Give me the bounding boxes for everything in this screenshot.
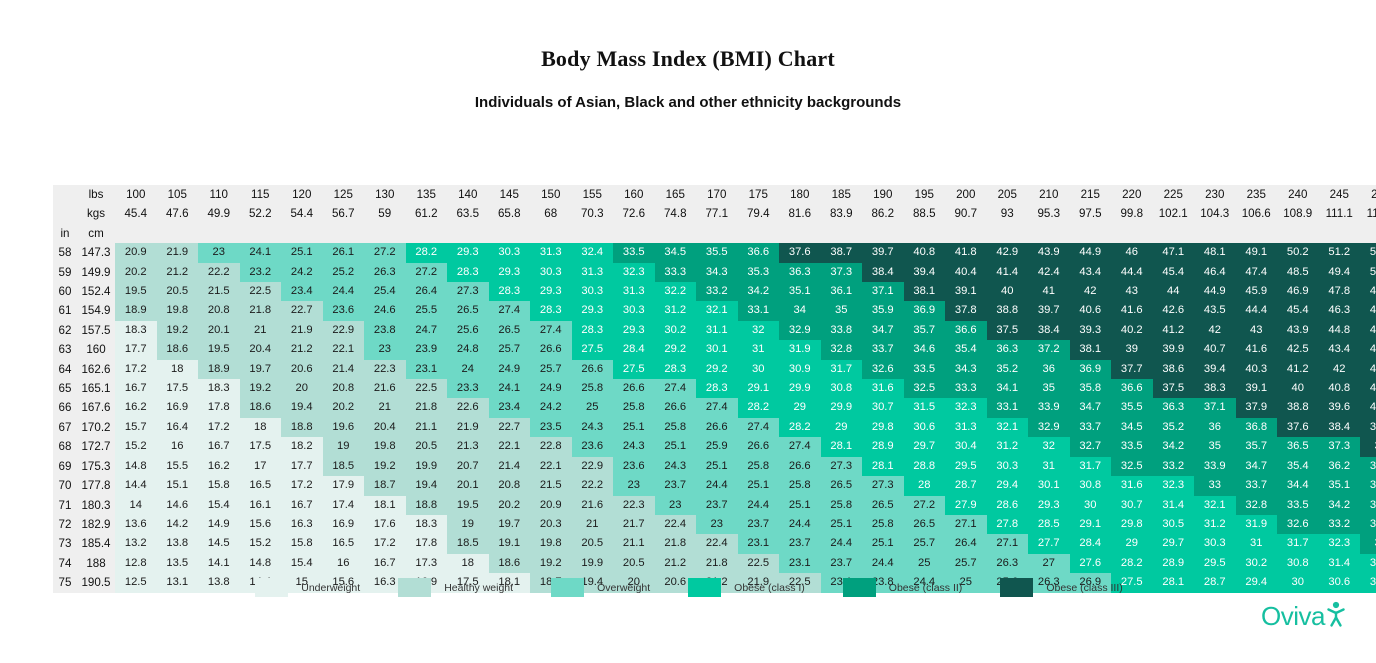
bmi-cell: 25.9	[696, 437, 738, 456]
bmi-cell: 30.3	[987, 457, 1029, 476]
bmi-cell: 40.8	[1319, 379, 1361, 398]
bmi-cell: 45.4	[1153, 263, 1195, 282]
height-in-header: 58	[53, 243, 77, 262]
bmi-cell: 23.8	[364, 321, 406, 340]
bmi-cell: 28.2	[1111, 554, 1153, 573]
bmi-cell: 41.4	[987, 263, 1029, 282]
bmi-cell: 25.1	[821, 515, 863, 534]
unit-kgs-label: kgs	[77, 204, 115, 223]
bmi-cell: 22.5	[738, 554, 780, 573]
bmi-cell: 33.2	[1319, 515, 1361, 534]
height-in-header: 62	[53, 321, 77, 340]
bmi-cell: 19.8	[364, 437, 406, 456]
bmi-cell: 32	[1028, 437, 1070, 456]
bmi-cell: 28.8	[904, 457, 946, 476]
bmi-cell: 31.2	[1360, 573, 1376, 592]
header-spacer-cell	[406, 224, 448, 243]
bmi-cell: 19.2	[240, 379, 282, 398]
bmi-cell: 40.2	[1111, 321, 1153, 340]
legend-swatch	[551, 578, 584, 597]
height-cm-header: 154.9	[77, 301, 115, 320]
bmi-cell: 26.1	[323, 243, 365, 262]
bmi-cell: 22.7	[281, 301, 323, 320]
bmi-cell: 28.9	[862, 437, 904, 456]
bmi-cell: 31	[738, 340, 780, 359]
bmi-cell: 34.6	[904, 340, 946, 359]
bmi-cell: 24.3	[613, 437, 655, 456]
header-spacer-cell	[1153, 224, 1195, 243]
bmi-cell: 26.6	[779, 457, 821, 476]
weight-lbs-header: 205	[987, 185, 1029, 204]
bmi-cell: 29.4	[987, 476, 1029, 495]
bmi-cell: 27	[1028, 554, 1070, 573]
bmi-cell: 35.5	[696, 243, 738, 262]
weight-lbs-header: 240	[1277, 185, 1319, 204]
bmi-cell: 35.3	[738, 263, 780, 282]
bmi-cell: 20.7	[447, 457, 489, 476]
height-cm-header: 177.8	[77, 476, 115, 495]
bmi-cell: 19	[323, 437, 365, 456]
bmi-cell: 29.9	[779, 379, 821, 398]
table-row: 69175.314.815.516.21717.718.519.219.920.…	[53, 457, 1376, 476]
bmi-cell: 26.3	[987, 554, 1029, 573]
bmi-cell: 40.4	[1360, 398, 1376, 417]
bmi-cell: 23.3	[447, 379, 489, 398]
bmi-cell: 43	[1236, 321, 1278, 340]
bmi-cell: 27.6	[1070, 554, 1112, 573]
bmi-cell: 38.4	[1319, 418, 1361, 437]
bmi-cell: 29.3	[489, 263, 531, 282]
bmi-cell: 27.1	[987, 534, 1029, 553]
height-in-header: 60	[53, 282, 77, 301]
bmi-cell: 27.3	[821, 457, 863, 476]
weight-lbs-header: 135	[406, 185, 448, 204]
bmi-cell: 44.9	[1194, 282, 1236, 301]
legend-swatch	[1000, 578, 1033, 597]
bmi-cell: 36.6	[738, 243, 780, 262]
bmi-cell: 28.4	[1070, 534, 1112, 553]
page-title: Body Mass Index (BMI) Chart	[0, 46, 1376, 72]
bmi-cell: 29.2	[696, 360, 738, 379]
header-spacer-cell	[572, 224, 614, 243]
header-spacer-cell	[1236, 224, 1278, 243]
bmi-cell: 17	[240, 457, 282, 476]
bmi-cell: 40.4	[945, 263, 987, 282]
bmi-cell: 15.6	[240, 515, 282, 534]
bmi-cell: 28.1	[821, 437, 863, 456]
bmi-cell: 29.9	[821, 398, 863, 417]
header-spacer-cell	[1319, 224, 1361, 243]
bmi-cell: 22.9	[572, 457, 614, 476]
height-cm-header: 185.4	[77, 534, 115, 553]
header-spacer-cell	[323, 224, 365, 243]
bmi-cell: 21.7	[613, 515, 655, 534]
table-row: 68172.715.21616.717.518.21919.820.521.32…	[53, 437, 1376, 456]
table-row: 70177.814.415.115.816.517.217.918.719.42…	[53, 476, 1376, 495]
header-spacer-cell	[530, 224, 572, 243]
bmi-cell: 27.3	[862, 476, 904, 495]
bmi-cell: 37.7	[1111, 360, 1153, 379]
bmi-cell: 28.2	[406, 243, 448, 262]
corner-blank-2	[53, 204, 77, 223]
height-cm-header: 167.6	[77, 398, 115, 417]
bmi-cell: 20.2	[115, 263, 157, 282]
bmi-cell: 36	[1028, 360, 1070, 379]
bmi-cell: 31.3	[572, 263, 614, 282]
bmi-cell: 33.3	[655, 263, 697, 282]
bmi-cell: 26.4	[945, 534, 987, 553]
legend-label: Obese (class II)	[889, 582, 963, 594]
bmi-cell: 19.7	[240, 360, 282, 379]
bmi-cell: 17.4	[323, 496, 365, 515]
bmi-cell: 46.4	[1194, 263, 1236, 282]
bmi-cell: 15.5	[157, 457, 199, 476]
bmi-cell: 32.5	[904, 379, 946, 398]
bmi-cell: 18	[240, 418, 282, 437]
bmi-cell: 34.3	[696, 263, 738, 282]
bmi-cell: 23.1	[406, 360, 448, 379]
bmi-cell: 25.1	[281, 243, 323, 262]
bmi-cell: 20.5	[572, 534, 614, 553]
bmi-cell: 16.3	[281, 515, 323, 534]
bmi-cell: 37.5	[987, 321, 1029, 340]
bmi-cell: 18.3	[406, 515, 448, 534]
bmi-cell: 30.8	[1070, 476, 1112, 495]
bmi-cell: 22.3	[364, 360, 406, 379]
bmi-cell: 42.9	[1360, 360, 1376, 379]
bmi-cell: 31.6	[1111, 476, 1153, 495]
bmi-cell: 20.2	[489, 496, 531, 515]
bmi-cell: 24.3	[655, 457, 697, 476]
weight-kgs-header: 111.1	[1319, 204, 1361, 223]
bmi-cell: 32.1	[696, 301, 738, 320]
bmi-cell: 27.5	[572, 340, 614, 359]
bmi-cell: 29	[1111, 534, 1153, 553]
weight-lbs-header: 140	[447, 185, 489, 204]
bmi-cell: 33.7	[1236, 476, 1278, 495]
bmi-cell: 25.8	[572, 379, 614, 398]
header-spacer-cell	[1194, 224, 1236, 243]
weight-lbs-header: 125	[323, 185, 365, 204]
bmi-cell: 25.1	[779, 496, 821, 515]
bmi-cell: 31.7	[1277, 534, 1319, 553]
height-in-header: 59	[53, 263, 77, 282]
bmi-cell: 34.2	[1153, 437, 1195, 456]
table-row: 62157.518.319.220.12121.922.923.824.725.…	[53, 321, 1376, 340]
bmi-cell: 31.3	[945, 418, 987, 437]
bmi-cell: 37.1	[1194, 398, 1236, 417]
bmi-cell: 23.6	[613, 457, 655, 476]
bmi-cell: 43.9	[1028, 243, 1070, 262]
bmi-cell: 30.3	[613, 301, 655, 320]
bmi-cell: 35	[821, 301, 863, 320]
bmi-cell: 34.7	[862, 321, 904, 340]
bmi-cell: 17.7	[281, 457, 323, 476]
weight-lbs-header: 110	[198, 185, 240, 204]
bmi-cell: 27.4	[779, 437, 821, 456]
bmi-cell: 18	[447, 554, 489, 573]
bmi-cell: 20	[281, 379, 323, 398]
legend-swatch	[688, 578, 721, 597]
bmi-cell: 32.6	[862, 360, 904, 379]
bmi-cell: 21.8	[240, 301, 282, 320]
header-spacer-cell	[779, 224, 821, 243]
bmi-cell: 22.5	[406, 379, 448, 398]
bmi-cell: 35.2	[987, 360, 1029, 379]
bmi-cell: 17.7	[115, 340, 157, 359]
bmi-cell: 20.6	[281, 360, 323, 379]
bmi-cell: 15.8	[198, 476, 240, 495]
bmi-cell: 25.8	[779, 476, 821, 495]
bmi-cell: 27.9	[945, 496, 987, 515]
bmi-cell: 34.7	[1236, 457, 1278, 476]
bmi-cell: 42.4	[1028, 263, 1070, 282]
bmi-cell: 36.3	[1153, 398, 1195, 417]
bmi-cell: 29.7	[904, 437, 946, 456]
bmi-cell: 37.6	[779, 243, 821, 262]
bmi-cell: 24.4	[738, 496, 780, 515]
bmi-cell: 35.8	[1070, 379, 1112, 398]
bmi-cell: 32.5	[1111, 457, 1153, 476]
bmi-cell: 21.9	[281, 321, 323, 340]
bmi-cell: 18.6	[157, 340, 199, 359]
weight-kgs-header: 99.8	[1111, 204, 1153, 223]
bmi-cell: 42.6	[1153, 301, 1195, 320]
bmi-cell: 20.5	[406, 437, 448, 456]
bmi-cell: 27.2	[904, 496, 946, 515]
bmi-cell: 33.3	[945, 379, 987, 398]
bmi-cell: 22.1	[530, 457, 572, 476]
bmi-cell: 15.2	[115, 437, 157, 456]
bmi-cell: 46	[1111, 243, 1153, 262]
bmi-cell: 17.2	[364, 534, 406, 553]
bmi-cell: 28.9	[1153, 554, 1195, 573]
bmi-cell: 42	[1194, 321, 1236, 340]
bmi-cell: 30.8	[821, 379, 863, 398]
table-row: 59149.920.221.222.223.224.225.226.327.22…	[53, 263, 1376, 282]
bmi-cell: 25.8	[613, 398, 655, 417]
bmi-cell: 33.1	[987, 398, 1029, 417]
bmi-cell: 27.8	[987, 515, 1029, 534]
bmi-cell: 29	[821, 418, 863, 437]
bmi-cell: 17.2	[281, 476, 323, 495]
weight-kgs-header: 74.8	[655, 204, 697, 223]
bmi-cell: 25.8	[738, 457, 780, 476]
bmi-cell: 34.1	[987, 379, 1029, 398]
bmi-cell: 23.7	[655, 476, 697, 495]
bmi-cell: 19.6	[323, 418, 365, 437]
bmi-cell: 25.8	[862, 515, 904, 534]
bmi-cell: 18.3	[198, 379, 240, 398]
bmi-cell: 35.9	[1360, 476, 1376, 495]
weight-kgs-header: 88.5	[904, 204, 946, 223]
header-spacer-cell	[1111, 224, 1153, 243]
bmi-cell: 24.7	[406, 321, 448, 340]
bmi-cell: 36.8	[1236, 418, 1278, 437]
bmi-table-body: 58147.320.921.92324.125.126.127.228.229.…	[53, 243, 1376, 592]
weight-kgs-header: 102.1	[1153, 204, 1195, 223]
bmi-cell: 23	[198, 243, 240, 262]
table-row: 71180.31414.615.416.116.717.418.118.819.…	[53, 496, 1376, 515]
bmi-cell: 32.3	[1319, 534, 1361, 553]
bmi-cell: 22.2	[198, 263, 240, 282]
bmi-cell: 24.9	[489, 360, 531, 379]
bmi-cell: 32.3	[945, 398, 987, 417]
bmi-cell: 46.3	[1319, 301, 1361, 320]
table-row: 61154.918.919.820.821.822.723.624.625.52…	[53, 301, 1376, 320]
header-spacer-cell	[198, 224, 240, 243]
bmi-cell: 47.8	[1319, 282, 1361, 301]
bmi-cell: 30.6	[904, 418, 946, 437]
height-in-header: 63	[53, 340, 77, 359]
bmi-cell: 23.2	[240, 263, 282, 282]
bmi-cell: 26.6	[613, 379, 655, 398]
bmi-cell: 24.8	[447, 340, 489, 359]
weight-lbs-header: 115	[240, 185, 282, 204]
bmi-cell: 23.4	[489, 398, 531, 417]
bmi-cell: 24	[447, 360, 489, 379]
bmi-cell: 33.9	[1360, 515, 1376, 534]
bmi-cell: 21.5	[530, 476, 572, 495]
bmi-cell: 22.1	[489, 437, 531, 456]
bmi-cell: 14.8	[115, 457, 157, 476]
bmi-cell: 23	[613, 476, 655, 495]
bmi-cell: 31.1	[696, 321, 738, 340]
bmi-cell: 39.1	[1360, 418, 1376, 437]
table-row: 72182.913.614.214.915.616.316.917.618.31…	[53, 515, 1376, 534]
bmi-cell: 38.7	[821, 243, 863, 262]
bmi-cell: 19.8	[530, 534, 572, 553]
bmi-cell: 19.5	[115, 282, 157, 301]
bmi-cell: 19.9	[572, 554, 614, 573]
bmi-cell: 26.5	[489, 321, 531, 340]
bmi-cell: 20.5	[613, 554, 655, 573]
bmi-cell: 19.9	[406, 457, 448, 476]
height-in-header: 65	[53, 379, 77, 398]
header-spacer-cell	[1070, 224, 1112, 243]
table-row: 64162.617.21818.919.720.621.422.323.1242…	[53, 360, 1376, 379]
bmi-cell: 37.6	[1277, 418, 1319, 437]
bmi-cell: 40.3	[1236, 360, 1278, 379]
bmi-cell: 17.8	[198, 398, 240, 417]
bmi-cell: 41.8	[945, 243, 987, 262]
bmi-cell: 39.7	[1028, 301, 1070, 320]
bmi-cell: 12.8	[115, 554, 157, 573]
bmi-cell: 24.1	[240, 243, 282, 262]
bmi-cell: 33.7	[862, 340, 904, 359]
bmi-cell: 29.3	[613, 321, 655, 340]
bmi-cell: 25.1	[655, 437, 697, 456]
bmi-cell: 21	[240, 321, 282, 340]
bmi-cell: 18.6	[489, 554, 531, 573]
bmi-cell: 21.2	[281, 340, 323, 359]
bmi-cell: 23.1	[738, 534, 780, 553]
bmi-cell: 30.7	[1111, 496, 1153, 515]
weight-lbs-header: 155	[572, 185, 614, 204]
bmi-cell: 18.1	[364, 496, 406, 515]
bmi-cell: 48.8	[1360, 282, 1376, 301]
bmi-cell: 16.2	[198, 457, 240, 476]
bmi-cell: 38.1	[904, 282, 946, 301]
bmi-cell: 31.7	[1070, 457, 1112, 476]
bmi-cell: 22.5	[240, 282, 282, 301]
legend-item: Overweight	[551, 578, 650, 597]
bmi-cell: 28.3	[530, 301, 572, 320]
bmi-cell: 39.4	[904, 263, 946, 282]
bmi-cell: 39	[1111, 340, 1153, 359]
bmi-cell: 43.4	[1070, 263, 1112, 282]
bmi-cell: 18.7	[364, 476, 406, 495]
bmi-cell: 43.9	[1277, 321, 1319, 340]
bmi-cell: 19.4	[281, 398, 323, 417]
bmi-cell: 46.9	[1277, 282, 1319, 301]
weight-kgs-header: 49.9	[198, 204, 240, 223]
legend-item: Obese (class I)	[688, 578, 805, 597]
bmi-cell: 30.3	[530, 263, 572, 282]
header-spacer-cell	[489, 224, 531, 243]
bmi-cell: 21.4	[323, 360, 365, 379]
bmi-cell: 30.3	[1194, 534, 1236, 553]
corner-blank-1	[53, 185, 77, 204]
bmi-cell: 30.1	[1028, 476, 1070, 495]
legend-item: Underweight	[255, 578, 360, 597]
bmi-cell: 31	[1028, 457, 1070, 476]
bmi-cell: 23	[696, 515, 738, 534]
header-spacer-cell	[1360, 224, 1376, 243]
bmi-cell: 36.3	[987, 340, 1029, 359]
bmi-cell: 24.2	[530, 398, 572, 417]
header-spacer-cell	[281, 224, 323, 243]
bmi-cell: 16.9	[323, 515, 365, 534]
bmi-cell: 33.2	[1153, 457, 1195, 476]
weight-lbs-header: 130	[364, 185, 406, 204]
bmi-cell: 33.5	[1277, 496, 1319, 515]
bmi-cell: 44.4	[1111, 263, 1153, 282]
bmi-cell: 25.1	[862, 534, 904, 553]
bmi-cell: 14.8	[240, 554, 282, 573]
bmi-cell: 33.9	[1028, 398, 1070, 417]
bmi-cell: 22.1	[323, 340, 365, 359]
bmi-cell: 30.4	[945, 437, 987, 456]
bmi-cell: 36.6	[1111, 379, 1153, 398]
header-spacer-cell	[447, 224, 489, 243]
bmi-cell: 23	[655, 496, 697, 515]
height-cm-header: 165.1	[77, 379, 115, 398]
bmi-cell: 38.8	[987, 301, 1029, 320]
bmi-cell: 25.1	[738, 476, 780, 495]
bmi-cell: 13.6	[115, 515, 157, 534]
bmi-cell: 20.3	[530, 515, 572, 534]
bmi-cell: 13.2	[115, 534, 157, 553]
bmi-cell: 24.9	[530, 379, 572, 398]
bmi-cell: 29.3	[447, 243, 489, 262]
bmi-cell: 20.4	[240, 340, 282, 359]
bmi-cell: 35.1	[779, 282, 821, 301]
header-spacer-cell	[157, 224, 199, 243]
weight-kgs-header: 81.6	[779, 204, 821, 223]
bmi-cell: 27.4	[489, 301, 531, 320]
bmi-cell: 49.1	[1236, 243, 1278, 262]
bmi-cell: 51.2	[1319, 243, 1361, 262]
bmi-cell: 14.4	[115, 476, 157, 495]
height-in-header: 68	[53, 437, 77, 456]
bmi-cell: 24.4	[821, 534, 863, 553]
bmi-cell: 16.7	[115, 379, 157, 398]
weight-lbs-header: 220	[1111, 185, 1153, 204]
bmi-cell: 20.1	[447, 476, 489, 495]
legend-swatch	[843, 578, 876, 597]
bmi-cell: 33	[1194, 476, 1236, 495]
